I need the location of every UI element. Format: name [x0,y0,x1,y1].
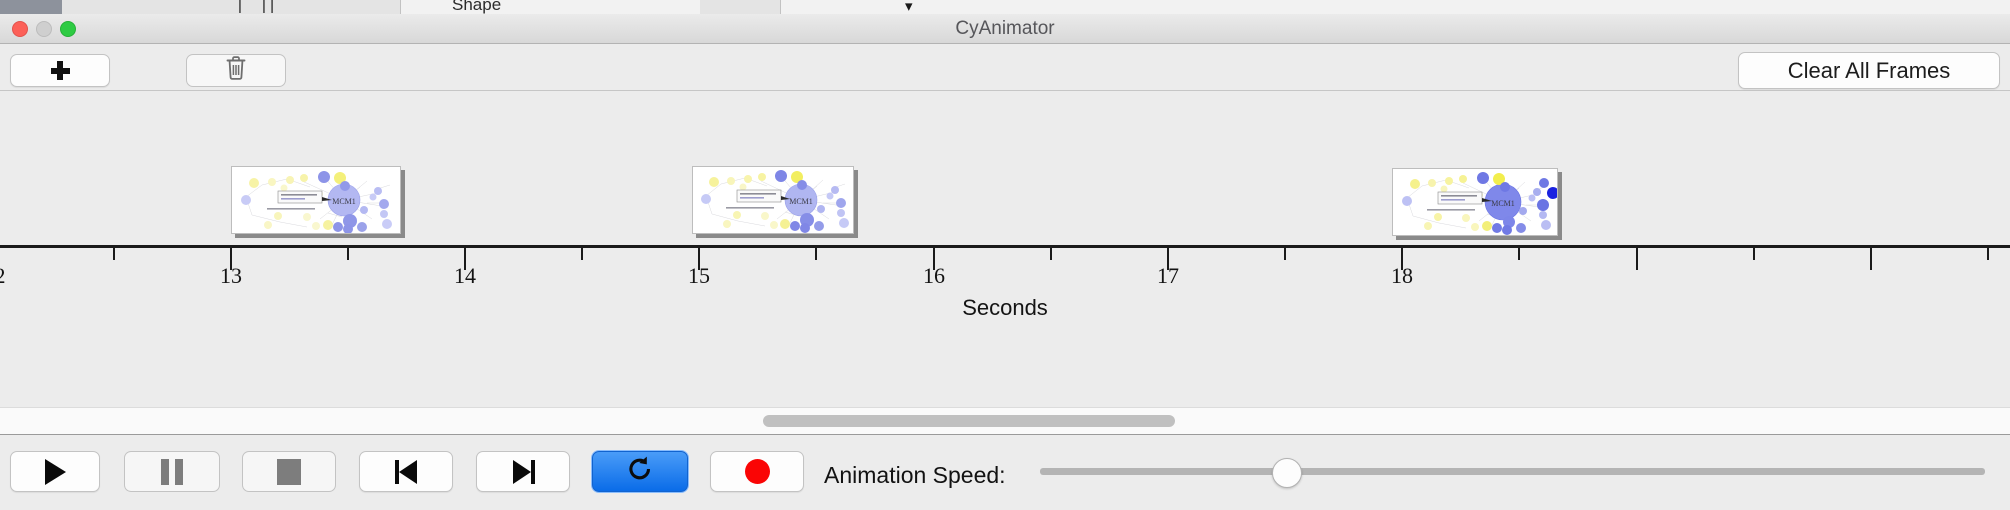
timeline-horizontal-scrollbar[interactable] [763,415,1175,427]
stop-button[interactable] [242,451,336,492]
pause-icon [161,459,183,485]
thumbnail-canvas: MCM1 [692,166,854,234]
axis-tick-label: 2 [0,263,12,289]
window-title: CyAnimator [0,14,2010,43]
axis-tick-minor [1518,248,1520,260]
plus-icon [51,61,70,80]
title-bar: CyAnimator [0,14,2010,44]
play-button[interactable] [10,451,100,492]
thumbnail-center-node-label-2: MCM1 [789,197,813,206]
background-window-tab [740,0,781,14]
animation-speed-slider-track[interactable] [1040,468,1985,475]
loop-toggle-button[interactable] [592,451,688,492]
background-window-tab [190,0,231,14]
add-frame-button[interactable] [10,54,110,87]
stop-icon [277,459,301,485]
loop-icon [626,455,654,488]
axis-tick-label: 14 [441,263,489,289]
frame-thumbnail-3[interactable]: MCM1 [1392,168,1558,236]
skip-next-icon [512,460,535,484]
close-button[interactable] [12,21,28,37]
delete-frame-button[interactable] [186,54,286,87]
frame-thumbnail-1[interactable]: MCM1 [231,166,401,234]
toolbar: Clear All Frames [0,44,2010,91]
frame-thumbnail-2[interactable]: MCM1 [692,166,854,234]
axis-tick-label: 17 [1144,263,1192,289]
timeline-axis-line [0,245,2010,248]
clear-all-frames-button[interactable]: Clear All Frames [1738,52,2000,89]
axis-tick-minor [113,248,115,260]
animation-speed-label: Animation Speed: [824,462,1006,489]
axis-tick-label: 15 [675,263,723,289]
axis-tick-minor [815,248,817,260]
axis-tick-label: 18 [1378,263,1426,289]
pause-button[interactable] [124,451,220,492]
playback-control-bar: Animation Speed: [0,434,2010,510]
background-window-tab [700,0,741,14]
minimize-button[interactable] [36,21,52,37]
thumbnail-canvas: MCM1 [1392,168,1558,236]
axis-tick-minor [1753,248,1755,260]
axis-tick-minor [1284,248,1286,260]
trash-icon [225,55,247,86]
record-button[interactable] [710,451,804,492]
skip-to-start-button[interactable] [359,451,453,492]
background-window-dark-panel [0,0,62,14]
background-window-strip: | | | ▾ Shape [0,0,2010,15]
axis-caption: Seconds [0,295,2010,321]
axis-tick-minor [1987,248,1989,260]
skip-previous-icon [395,460,418,484]
axis-tick-minor [1050,248,1052,260]
background-window-tab [230,0,261,14]
cyanimator-window: | | | ▾ Shape CyAnimator C [0,0,2010,510]
background-window-tab [130,0,191,14]
traffic-light-group [12,21,76,37]
background-window-tab [310,0,401,14]
record-icon [745,459,770,484]
thumbnail-canvas: MCM1 [231,166,401,234]
axis-tick-major [1636,248,1638,270]
background-window-label: Shape [452,0,501,15]
play-icon [45,459,66,485]
maximize-button[interactable] [60,21,76,37]
axis-tick-label: 16 [910,263,958,289]
axis-tick-label: 13 [207,263,255,289]
timeline-panel[interactable]: 2 13 14 15 16 17 18 Seconds [0,91,2010,407]
timeline-scrollbar-track[interactable] [0,407,2010,434]
axis-tick-minor [347,248,349,260]
animation-speed-slider[interactable] [1272,458,1302,488]
axis-tick-minor [581,248,583,260]
skip-to-end-button[interactable] [476,451,570,492]
background-window-tab [62,0,131,14]
axis-tick-major [1870,248,1872,270]
thumbnail-center-node-label-1: MCM1 [332,197,356,206]
thumbnail-center-node-label-3: MCM1 [1491,199,1515,208]
